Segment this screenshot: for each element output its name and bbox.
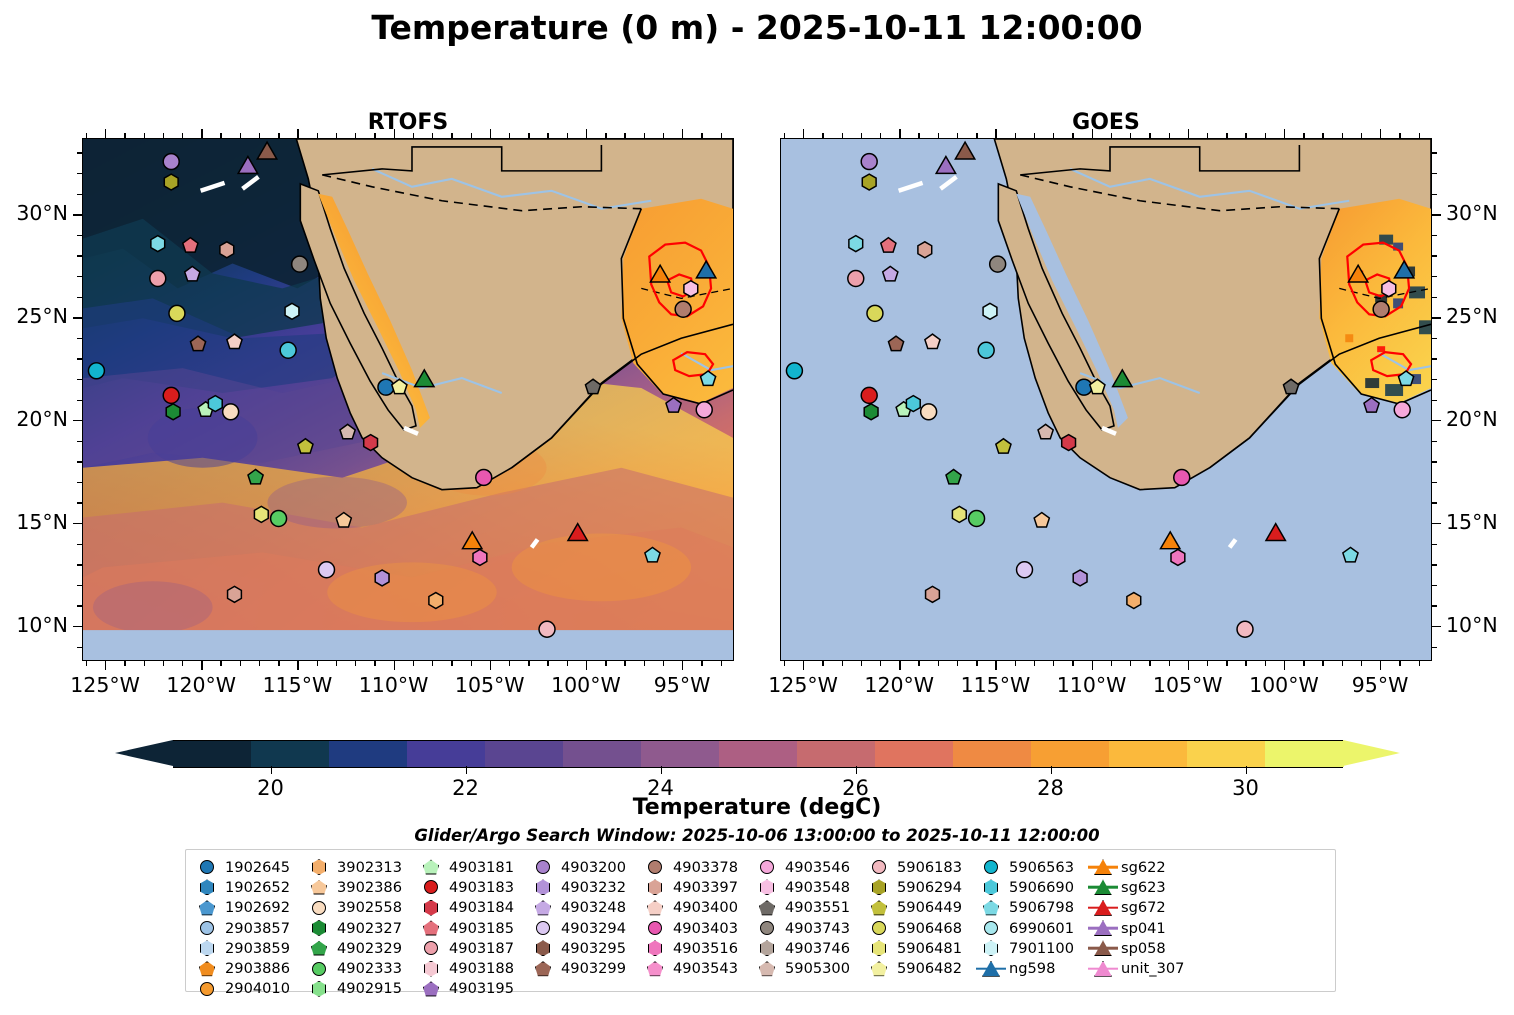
map-marker-ng598[interactable] [696,261,715,278]
x-tick-label: 120°W [146,673,256,697]
x-minor-tick [86,661,87,666]
x-minor-tick [918,661,919,666]
legend-swatch [648,921,662,935]
legend-label: 4903400 [670,899,738,916]
y-minor-tick [1432,338,1437,339]
map-marker-4902329[interactable] [946,469,961,483]
map-marker-4902333[interactable] [969,511,985,527]
x-minor-tick [355,661,356,666]
map-marker-5906798c[interactable] [645,547,660,561]
x-minor-tick [957,661,958,666]
map-marker-1902645[interactable] [1076,379,1092,395]
y-minor-tick [77,297,82,298]
legend-label: sg672 [1118,899,1166,916]
map-marker-5906690[interactable] [978,342,994,358]
x-tick [1188,661,1189,670]
legend-marker-circle-icon [752,919,782,938]
y-minor-tick [77,152,82,153]
map-marker-4903378[interactable] [675,301,691,317]
legend-item-5906449[interactable]: 5906449 [864,898,976,918]
legend-label: sp058 [1118,940,1166,957]
legend-item-4902333[interactable]: 4902333 [304,958,416,978]
legend-item-5906481[interactable]: 5906481 [864,938,976,958]
map-marker-5906183[interactable] [1237,621,1253,637]
legend-item-4902329[interactable]: 4902329 [304,938,416,958]
legend-item-5906294[interactable]: 5906294 [864,877,976,897]
legend-item-4903546[interactable]: 4903546 [752,857,864,877]
legend-item-4903181[interactable]: 4903181 [416,857,528,877]
legend-marker-hex-icon [304,919,334,938]
map-marker-4903184[interactable] [364,435,378,451]
x-minor-tick [124,133,125,138]
legend-marker-tri-icon [1088,858,1118,877]
map-marker-4903546[interactable] [1394,402,1410,418]
x-minor-tick [701,661,702,666]
y-minor-tick [77,647,82,648]
x-minor-tick [451,661,452,666]
colorbar[interactable]: 202224262830 [115,740,1400,766]
colorbar-segment [485,741,564,767]
legend-item-2903886[interactable]: 2903886 [192,958,304,978]
y-minor-tick [1432,400,1437,401]
map-marker-3902558[interactable] [921,404,937,420]
y-minor-tick [77,441,82,442]
map-marker-5906798c[interactable] [1343,547,1358,561]
legend-swatch [535,900,551,915]
legend-item-4903183[interactable]: 4903183 [416,877,528,897]
x-minor-tick [1169,661,1170,666]
legend-label: 4903546 [782,859,850,876]
x-minor-tick [432,661,433,666]
legend-swatch [535,961,551,976]
legend-item-4903200[interactable]: 4903200 [528,857,640,877]
map-marker-5905300[interactable] [340,424,355,438]
legend-item-4903743[interactable]: 4903743 [752,918,864,938]
legend-label: 4903299 [558,960,626,977]
map-marker-4903200[interactable] [163,154,179,170]
legend-swatch [312,859,326,875]
legend-item-sg672[interactable]: sg672 [1088,898,1200,918]
colorbar-segment [1109,741,1188,767]
y-tick [1432,317,1441,318]
x-minor-tick [605,133,606,138]
map-marker-5906468[interactable] [867,305,883,321]
map-marker-4903400[interactable] [227,334,242,348]
legend-item-4903400[interactable]: 4903400 [640,898,752,918]
map-marker-sg622[interactable] [650,265,669,282]
map-marker-sp058[interactable] [257,142,276,159]
map-marker-4903516[interactable] [1171,549,1185,565]
y-tick [73,626,82,627]
x-minor-tick [413,661,414,666]
y-minor-tick [77,194,82,195]
map-marker-4902333[interactable] [271,511,287,527]
legend-item-5906690[interactable]: 5906690 [976,877,1088,897]
map-marker-4903248[interactable] [185,266,200,280]
legend-item-1902645[interactable]: 1902645 [192,857,304,877]
legend-column: 4903546490354849035514903743490374659053… [752,857,864,999]
y-minor-tick [77,605,82,606]
map-marker-5906798[interactable] [849,236,863,252]
legend-swatch [536,879,550,895]
legend-grid: 1902645190265219026922903857290385929038… [192,857,1200,999]
colorbar-gradient [173,740,1343,768]
x-tick [1092,661,1093,670]
x-minor-tick [1322,133,1323,138]
legend-marker-pent-icon [864,898,894,917]
map-marker-5906481[interactable] [254,506,268,522]
map-marker-4903294[interactable] [319,562,335,578]
legend-item-7901100[interactable]: 7901100 [976,938,1088,958]
legend-item-5906563[interactable]: 5906563 [976,857,1088,877]
map-marker-4903195[interactable] [666,398,681,412]
x-minor-tick [1419,133,1420,138]
x-minor-tick [1207,133,1208,138]
y-tick [73,214,82,215]
legend-swatch [312,920,326,936]
x-minor-tick [182,133,183,138]
colorbar-segment [719,741,798,767]
x-tick-label: 125°W [748,673,858,697]
map-marker-5905300[interactable] [1038,424,1053,438]
legend-item-3902313[interactable]: 3902313 [304,857,416,877]
legend-swatch [760,940,774,956]
map-marker-5906690b[interactable] [208,396,222,412]
x-minor-tick [278,661,279,666]
y-tick [1432,626,1441,627]
map-marker-5906468[interactable] [169,305,185,321]
x-tick [1380,661,1381,670]
map-marker-4903397b[interactable] [228,586,242,602]
map-marker-4903743[interactable] [292,256,308,272]
y-minor-tick [1432,502,1437,503]
map-marker-sg623[interactable] [415,370,434,387]
x-minor-tick [1149,133,1150,138]
legend-item-1902652[interactable]: 1902652 [192,877,304,897]
map-marker-4903184[interactable] [1062,435,1076,451]
x-minor-tick [1226,661,1227,666]
x-tick [1284,661,1285,670]
map-marker-sg672[interactable] [568,524,587,541]
x-minor-tick [1342,133,1343,138]
observation-markers-rtofs[interactable] [83,139,733,660]
legend-item-5906468[interactable]: 5906468 [864,918,976,938]
y-minor-tick [1432,482,1437,483]
map-marker-sg622b[interactable] [1161,532,1180,549]
legend-marker-tri-icon [1088,878,1118,897]
legend-marker-circle-icon [192,919,222,938]
legend-item-4903294[interactable]: 4903294 [528,918,640,938]
map-marker-4902329[interactable] [248,469,263,483]
legend-column: 4903200490323249032484903294490329549032… [528,857,640,999]
map-marker-3902386[interactable] [336,513,351,527]
panel-title-rtofs: RTOFS [82,110,734,135]
map-marker-5906563[interactable] [88,363,104,379]
legend-item-4903397[interactable]: 4903397 [640,877,752,897]
y-minor-tick [1432,585,1437,586]
legend-marker-circle-icon [976,919,1006,938]
legend-swatch [423,981,439,996]
map-marker-sp041[interactable] [936,157,955,174]
map-marker-4903516[interactable] [473,549,487,565]
map-marker-4903397[interactable] [220,242,234,258]
map-marker-4903551[interactable] [1283,379,1298,393]
map-marker-4903397[interactable] [918,242,932,258]
legend-item-4903195[interactable]: 4903195 [416,979,528,999]
x-minor-tick [1245,661,1246,666]
x-minor-tick [528,661,529,666]
map-marker-4903232[interactable] [375,570,389,586]
map-marker-4902327[interactable] [864,404,878,420]
x-minor-tick [547,133,548,138]
map-marker-3902386[interactable] [1034,513,1049,527]
x-tick [297,661,298,670]
x-minor-tick [567,133,568,138]
y-minor-tick [77,564,82,565]
map-marker-4903378[interactable] [1373,301,1389,317]
legend-item-4903543[interactable]: 4903543 [640,958,752,978]
map-marker-7901100[interactable] [983,303,997,319]
legend-marker-hex-icon [640,939,670,958]
map-marker-4903403[interactable] [476,469,492,485]
x-minor-tick [918,133,919,138]
y-minor-tick [1432,564,1437,565]
legend-marker-pent-icon [416,979,446,998]
legend-item-5906482[interactable]: 5906482 [864,958,976,978]
legend-label: 5906563 [1006,859,1074,876]
map-marker-sg672[interactable] [1266,524,1285,541]
x-minor-tick [644,133,645,138]
legend-item-4903188[interactable]: 4903188 [416,958,528,978]
legend-marker-circle-icon [528,858,558,877]
map-marker-7901100[interactable] [285,303,299,319]
legend-item-5905300[interactable]: 5905300 [752,958,864,978]
legend-label: 4903195 [446,980,514,997]
legend-item-unit_307[interactable]: unit_307 [1088,958,1200,978]
legend-marker-circle-icon [640,858,670,877]
y-minor-tick [77,358,82,359]
y-tick [1432,523,1441,524]
legend-item-1902692[interactable]: 1902692 [192,898,304,918]
legend-column: 4903378490339749034004903403490351649035… [640,857,752,999]
legend-column: 1902645190265219026922903857290385929038… [192,857,304,999]
x-minor-tick [259,133,260,138]
map-marker-5906690[interactable] [280,342,296,358]
legend-item-5906798[interactable]: 5906798 [976,898,1088,918]
x-minor-tick [86,133,87,138]
map-marker-5906798b[interactable] [700,371,715,385]
legend-marker-pent-icon [416,858,446,877]
x-minor-tick [1072,133,1073,138]
legend-marker-circle-icon [528,919,558,938]
legend-item-6990601[interactable]: 6990601 [976,918,1088,938]
legend-marker-circle-icon [192,979,222,998]
x-minor-tick [880,133,881,138]
x-minor-tick [509,133,510,138]
x-minor-tick [317,661,318,666]
legend-item-4903248[interactable]: 4903248 [528,898,640,918]
legend-label: 4903516 [670,940,738,957]
map-marker-4903185[interactable] [183,238,198,252]
legend-item-3902386[interactable]: 3902386 [304,877,416,897]
x-tick [995,129,996,138]
search-window-subtitle: Glider/Argo Search Window: 2025-10-06 13… [0,826,1514,845]
map-panel-goes[interactable] [780,138,1432,661]
map-marker-4903195[interactable] [1364,398,1379,412]
x-minor-tick [842,133,843,138]
legend-swatch [647,900,663,915]
legend-label: 3902313 [334,859,402,876]
legend-item-4903295[interactable]: 4903295 [528,938,640,958]
legend-item-4903378[interactable]: 4903378 [640,857,752,877]
legend-column: 3902313390238639025584902327490232949023… [304,857,416,999]
x-minor-tick [605,661,606,666]
legend-item-ng598[interactable]: ng598 [976,958,1088,978]
map-marker-4903294[interactable] [1017,562,1033,578]
map-marker-4903187[interactable] [848,271,864,287]
observation-markers-goes[interactable] [781,139,1431,660]
legend-item-3902558[interactable]: 3902558 [304,898,416,918]
map-marker-5906183[interactable] [539,621,555,637]
map-marker-4903548[interactable] [684,281,698,297]
x-minor-tick [1361,133,1362,138]
legend-label: 4903378 [670,859,738,876]
y-minor-tick [77,461,82,462]
legend-item-4903516[interactable]: 4903516 [640,938,752,958]
legend-marker-circle-icon [976,858,1006,877]
map-marker-5906449[interactable] [298,439,313,453]
map-marker-5906482[interactable] [392,379,407,393]
legend-label: 4902333 [334,960,402,977]
legend-item-4903551[interactable]: 4903551 [752,898,864,918]
legend-swatch [312,962,326,976]
legend-box[interactable]: 1902645190265219026922903857290385929038… [185,849,1336,992]
x-tick-label: 95°W [1325,673,1435,697]
legend-item-4902915[interactable]: 4902915 [304,979,416,999]
map-marker-4903546[interactable] [696,402,712,418]
legend-item-4903299[interactable]: 4903299 [528,958,640,978]
legend-column: sg622sg623sg672sp041sp058unit_307 [1088,857,1200,999]
x-minor-tick [1034,661,1035,666]
legend-item-sp058[interactable]: sp058 [1088,938,1200,958]
map-marker-4903743[interactable] [990,256,1006,272]
map-marker-4903403[interactable] [1174,469,1190,485]
map-marker-ng598[interactable] [1394,261,1413,278]
map-marker-4902327[interactable] [166,404,180,420]
x-minor-tick [1015,661,1016,666]
map-marker-5906481[interactable] [952,506,966,522]
map-marker-sg623[interactable] [1113,370,1132,387]
map-marker-4903551[interactable] [585,379,600,393]
colorbar-extend-max [1343,740,1400,766]
x-minor-tick [880,661,881,666]
colorbar-segment [1265,741,1344,767]
legend-label: 4903184 [446,899,514,916]
map-marker-4903397b[interactable] [926,586,940,602]
legend-swatch [984,879,998,895]
legend-item-4903185[interactable]: 4903185 [416,918,528,938]
legend-label: 2903857 [222,920,290,937]
legend-item-sg622[interactable]: sg622 [1088,857,1200,877]
legend-swatch [536,940,550,956]
map-marker-5906798[interactable] [151,236,165,252]
legend-item-5906183[interactable]: 5906183 [864,857,976,877]
map-marker-1902645[interactable] [378,379,394,395]
map-marker-sg622b[interactable] [463,532,482,549]
map-marker-4903299[interactable] [190,336,205,350]
legend-item-4903232[interactable]: 4903232 [528,877,640,897]
legend-label: 4903743 [782,920,850,937]
page-title: Temperature (0 m) - 2025-10-11 12:00:00 [0,8,1514,47]
legend-item-4903403[interactable]: 4903403 [640,918,752,938]
x-minor-tick [624,661,625,666]
legend-label: 2903886 [222,960,290,977]
map-marker-4903548[interactable] [1382,281,1396,297]
legend-item-sp041[interactable]: sp041 [1088,918,1200,938]
x-minor-tick [547,661,548,666]
x-minor-tick [144,133,145,138]
y-tick [73,523,82,524]
map-marker-5906482[interactable] [1090,379,1105,393]
map-marker-5906294[interactable] [164,174,178,190]
x-minor-tick [432,133,433,138]
legend-item-2903857[interactable]: 2903857 [192,918,304,938]
map-marker-4903187[interactable] [150,271,166,287]
legend-item-4903187[interactable]: 4903187 [416,938,528,958]
legend-item-2903859[interactable]: 2903859 [192,938,304,958]
x-minor-tick [976,661,977,666]
map-marker-sg622[interactable] [1348,265,1367,282]
x-minor-tick [1111,133,1112,138]
map-marker-3902313[interactable] [1127,593,1141,609]
y-minor-tick [1432,173,1437,174]
map-marker-4903248[interactable] [883,266,898,280]
legend-label: 5906468 [894,920,962,937]
map-marker-4903183[interactable] [163,387,179,403]
legend-swatch [647,961,663,976]
legend-item-4903184[interactable]: 4903184 [416,898,528,918]
legend-item-4903746[interactable]: 4903746 [752,938,864,958]
map-marker-4903232[interactable] [1073,570,1087,586]
legend-item-2904010[interactable]: 2904010 [192,979,304,999]
map-marker-4903400[interactable] [925,334,940,348]
map-marker-4903299[interactable] [888,336,903,350]
x-minor-tick [822,133,823,138]
map-panel-rtofs[interactable] [82,138,734,661]
map-marker-5906449[interactable] [996,439,1011,453]
legend-marker-circle-icon [304,959,334,978]
map-marker-4903183[interactable] [861,387,877,403]
map-marker-5906294[interactable] [862,174,876,190]
map-marker-3902558[interactable] [223,404,239,420]
map-marker-5906563[interactable] [786,363,802,379]
map-marker-3902313[interactable] [429,593,443,609]
x-tick-label: 95°W [627,673,737,697]
map-marker-5906690b[interactable] [906,396,920,412]
map-marker-4903185[interactable] [881,238,896,252]
map-marker-4903200[interactable] [861,154,877,170]
legend-item-sg623[interactable]: sg623 [1088,877,1200,897]
x-tick [1188,129,1189,138]
legend-label: 5906449 [894,899,962,916]
map-marker-sp041[interactable] [238,157,257,174]
legend-item-4902327[interactable]: 4902327 [304,918,416,938]
map-marker-5906798b[interactable] [1398,371,1413,385]
legend-item-4903548[interactable]: 4903548 [752,877,864,897]
x-minor-tick [182,661,183,666]
map-marker-sp058[interactable] [955,142,974,159]
x-minor-tick [721,661,722,666]
